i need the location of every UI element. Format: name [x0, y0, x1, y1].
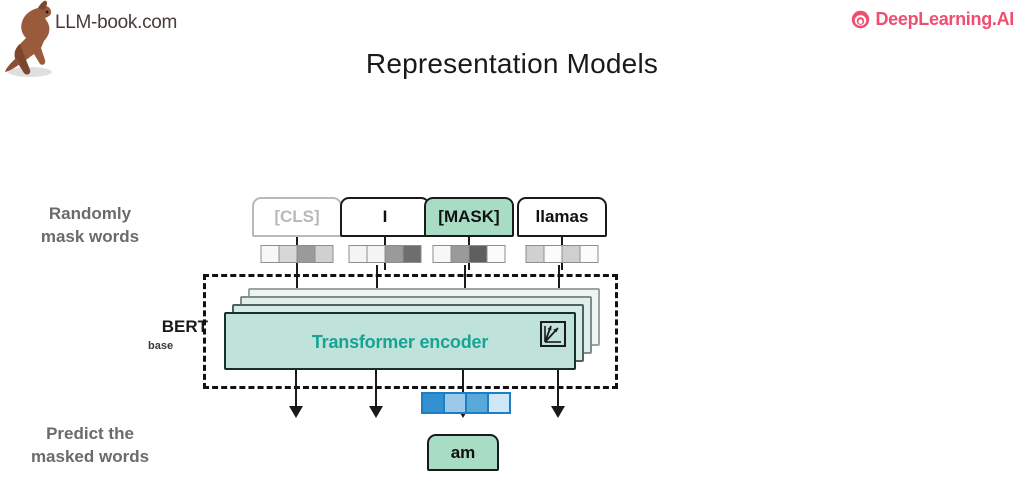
token-box-llamas[interactable]: llamas	[517, 197, 607, 237]
embedding-cell	[563, 246, 580, 262]
output-embedding	[421, 392, 511, 414]
embedding-cell	[386, 246, 403, 262]
embedding-cell	[280, 246, 297, 262]
arrow-head	[369, 406, 383, 418]
token-box-i[interactable]: I	[340, 197, 430, 237]
embedding-cell	[350, 246, 367, 262]
embedding-cell	[470, 246, 487, 262]
token-column: [MASK]	[424, 197, 514, 237]
token-column: llamas	[517, 197, 607, 237]
deeplearning-ai-name: DeepLearning.AI	[875, 9, 1014, 30]
caption-randomly-mask-words: Randomly mask words	[0, 203, 185, 249]
caption-line-2: masked words	[0, 446, 185, 469]
caption-line-1: Predict the	[0, 423, 185, 446]
token-embedding-llamas	[526, 245, 599, 263]
predicted-word-box[interactable]: am	[427, 434, 499, 471]
embedding-cell	[545, 246, 562, 262]
attention-arrows-icon	[540, 321, 566, 347]
arrow-shaft	[557, 370, 559, 408]
embedding-cell	[298, 246, 315, 262]
caption-line-1: Randomly	[0, 203, 185, 226]
spiral-icon	[851, 10, 870, 29]
embedding-cell	[262, 246, 279, 262]
arrow-shaft	[375, 370, 377, 408]
arrow-head	[551, 406, 565, 418]
transformer-encoder-block[interactable]: Transformer encoder	[224, 312, 576, 370]
embedding-cell	[488, 246, 505, 262]
page-title: Representation Models	[0, 48, 1024, 80]
bert-base-subscript: base	[148, 340, 173, 352]
deeplearning-ai-logo: DeepLearning.AI	[851, 9, 1014, 30]
token-column: [CLS]	[252, 197, 342, 237]
output-embedding-cell	[467, 394, 487, 412]
token-box-cls[interactable]: [CLS]	[252, 197, 342, 237]
arrow-shaft	[295, 370, 297, 408]
caption-line-2: mask words	[0, 226, 185, 249]
token-embedding-cls	[261, 245, 334, 263]
site-url-label: LLM-book.com	[55, 12, 177, 34]
token-embedding-mask	[433, 245, 506, 263]
token-column: I	[340, 197, 430, 237]
embedding-cell	[527, 246, 544, 262]
embedding-cell	[316, 246, 333, 262]
token-box-mask[interactable]: [MASK]	[424, 197, 514, 237]
arrow-head	[289, 406, 303, 418]
embedding-cell	[434, 246, 451, 262]
embedding-cell	[581, 246, 598, 262]
embedding-cell	[404, 246, 421, 262]
bert-model-label: BERT	[108, 318, 208, 335]
token-embedding-i	[349, 245, 422, 263]
transformer-encoder-label: Transformer encoder	[226, 332, 574, 353]
caption-predict-masked-words: Predict the masked words	[0, 423, 185, 469]
embedding-cell	[368, 246, 385, 262]
output-embedding-cell	[445, 394, 465, 412]
output-embedding-cell	[423, 394, 443, 412]
embedding-cell	[452, 246, 469, 262]
output-embedding-cell	[489, 394, 509, 412]
